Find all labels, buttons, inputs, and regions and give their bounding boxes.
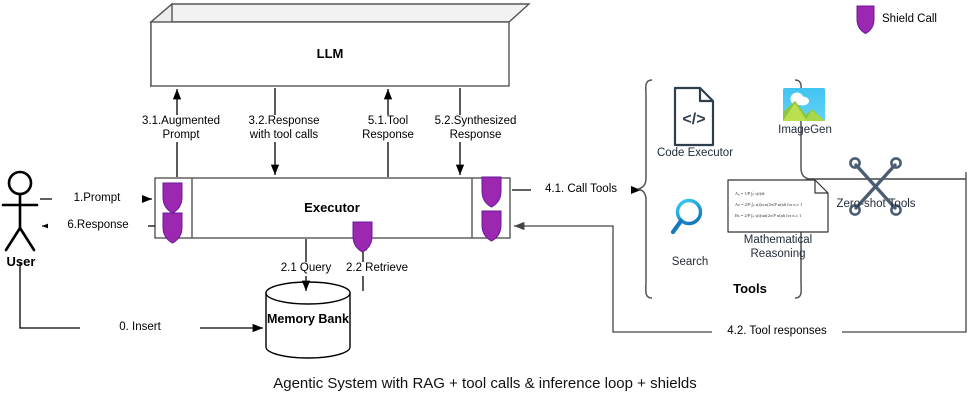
- executor-label: Executor: [192, 201, 472, 215]
- diagram-canvas: </> A₀ = 1/P ∫ₚ s(t)dt Aₙ = 2/P ∫ₚ s(t)c…: [0, 0, 970, 411]
- edge-label-3-1-augmented-prompt: 3.1.Augmented Prompt: [136, 115, 226, 142]
- legend-shield-call-label: Shield Call: [882, 13, 970, 27]
- tools-group-label: Tools: [690, 282, 810, 296]
- svg-text:</>: </>: [682, 111, 705, 128]
- tool-label-zero-shot-tools: Zero-shot Tools: [836, 198, 916, 212]
- edge-label-4-1-call-tools: 4.1. Call Tools: [531, 183, 631, 197]
- edge-label-1-prompt: 1.Prompt: [52, 192, 142, 206]
- llm-node: [151, 4, 529, 86]
- tool-label-code-executor: Code Executor: [645, 147, 745, 161]
- edge-label-6-response: 6.Response: [48, 219, 148, 233]
- tool-label-search: Search: [655, 256, 725, 270]
- diagram-caption: Agentic System with RAG + tool calls & i…: [0, 375, 970, 392]
- edge-label-5-1-tool-response: 5.1.Tool Response: [348, 115, 428, 142]
- formula-document-icon: A₀ = 1/P ∫ₚ s(t)dt Aₙ = 2/P ∫ₚ s(t)cos(2…: [728, 180, 828, 232]
- memory-bank-label: Memory Bank: [266, 313, 350, 327]
- code-document-icon: </>: [675, 88, 713, 145]
- user-actor: [3, 172, 37, 250]
- edge-label-5-2-synthesized-response: 5.2.Synthesized Response: [423, 115, 528, 142]
- tool-label-mathematical-reasoning: Mathematical Reasoning: [723, 234, 833, 261]
- image-generation-icon: [783, 88, 825, 121]
- user-label: User: [0, 255, 42, 269]
- edge-label-4-2-tool-responses: 4.2. Tool responses: [712, 325, 842, 339]
- llm-label: LLM: [151, 47, 509, 61]
- magnifier-icon: [673, 201, 701, 233]
- edge-label-0-insert: 0. Insert: [80, 321, 200, 335]
- edge-label-2-2-retrieve: 2.2 Retrieve: [333, 262, 421, 276]
- edge-label-3-2-response-with-tool-calls: 3.2.Response with tool calls: [234, 115, 334, 142]
- tool-label-imagegen: ImageGen: [766, 124, 844, 138]
